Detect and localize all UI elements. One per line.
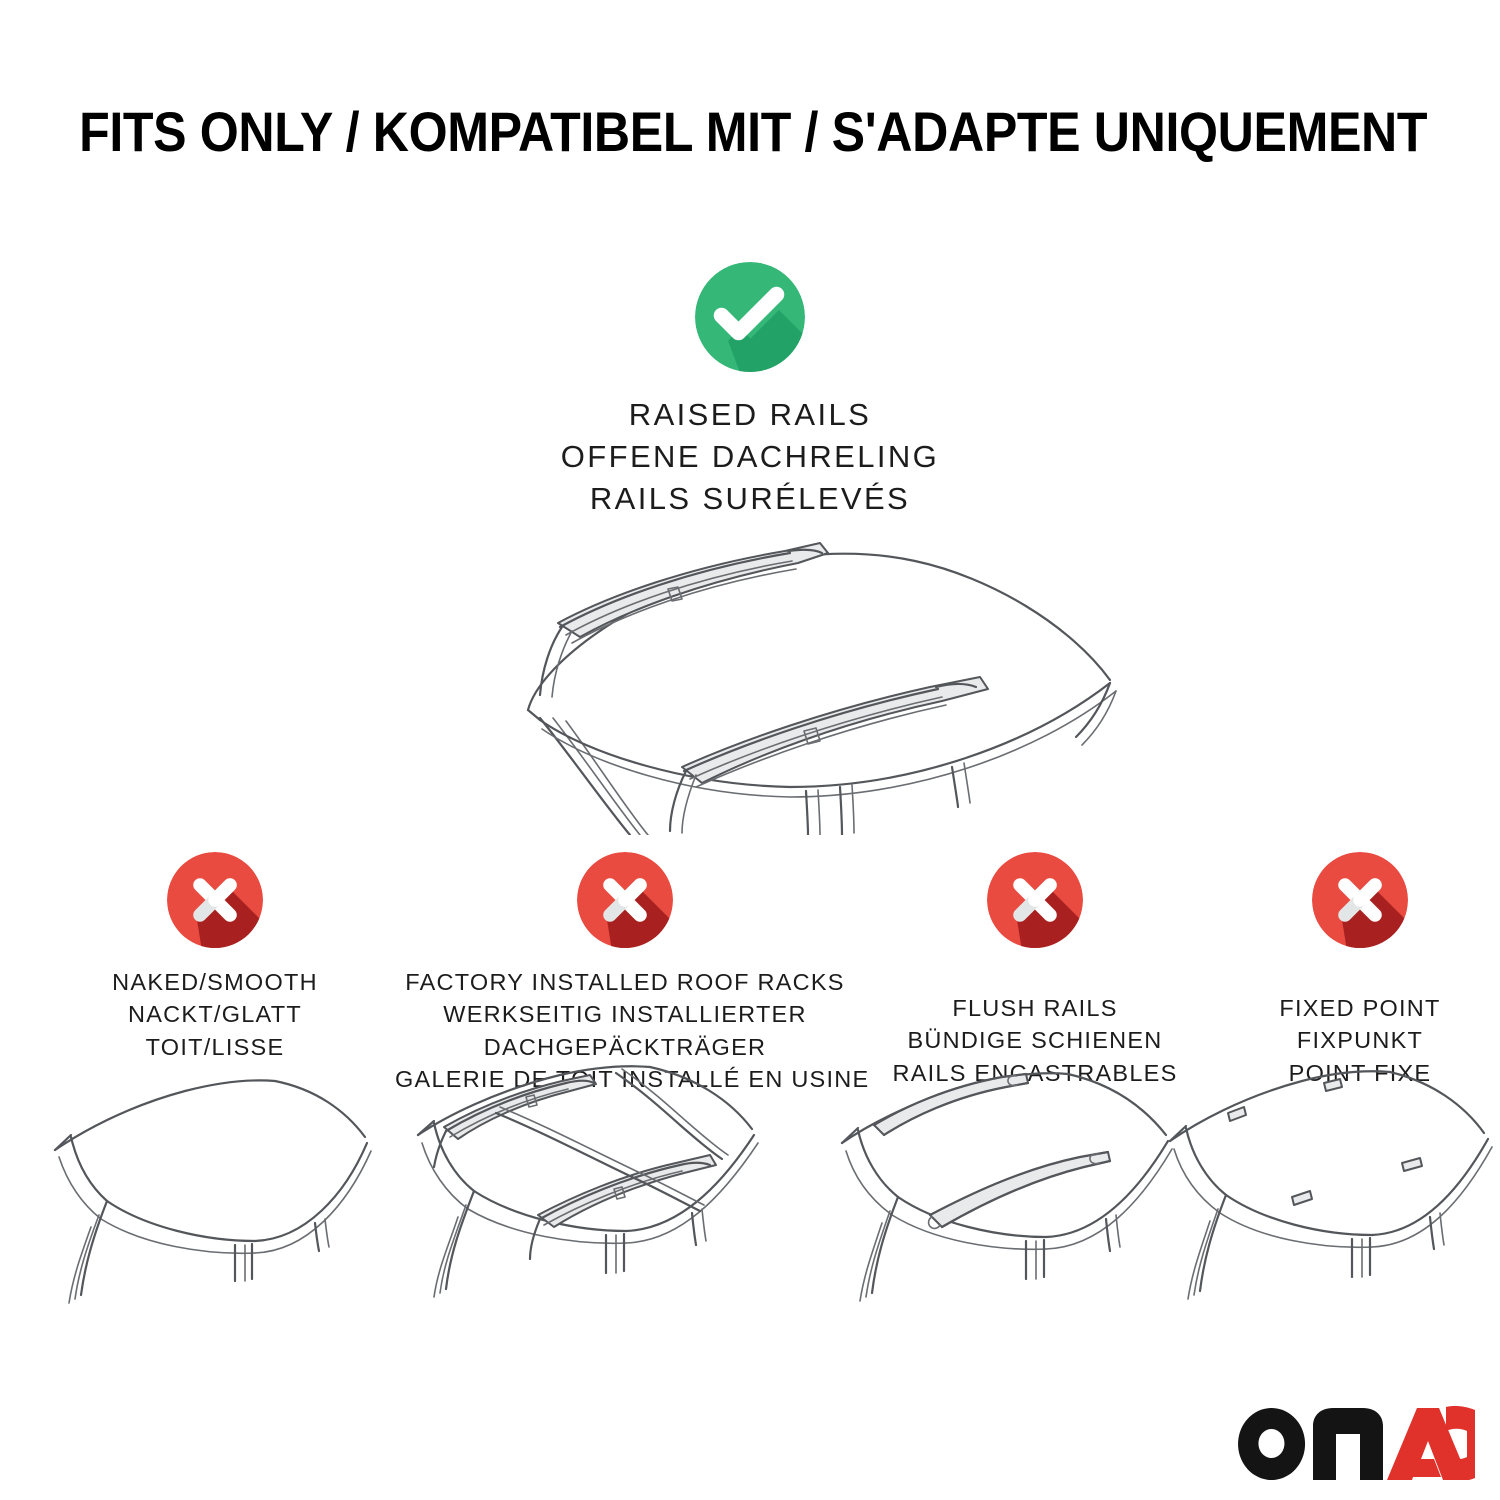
incompatible-4-label-en: FIXED POINT [1215,992,1500,1024]
incompatible-1-label-de: NACKT/GLATT [40,998,390,1030]
x-circle-icon [577,852,673,948]
incompatible-4-label-de: FIXPUNKT [1215,1024,1500,1056]
logo-letter-o [1238,1408,1305,1480]
compatible-labels: RAISED RAILS OFFENE DACHRELING RAILS SUR… [0,394,1500,520]
car-roof-raised-rails-illustration [390,505,1130,835]
compatible-section: RAISED RAILS OFFENE DACHRELING RAILS SUR… [0,262,1500,520]
page-title: FITS ONLY / KOMPATIBEL MIT / S'ADAPTE UN… [79,104,1427,160]
logo-letter-m [1313,1408,1383,1480]
incompatible-2-label-en: FACTORY INSTALLED ROOF RACKS [395,966,855,998]
incompatible-column-flush-rails: FLUSH RAILS BÜNDIGE SCHIENEN RAILS ENCAS… [860,852,1210,1089]
x-circle-icon [167,852,263,948]
page-title-bar: FITS ONLY / KOMPATIBEL MIT / S'ADAPTE UN… [0,104,1500,160]
x-icon-wrap-4 [1215,852,1500,952]
omac-logo [1235,1405,1475,1480]
incompatible-column-naked-smooth: NAKED/SMOOTH NACKT/GLATT TOIT/LISSE [40,852,390,1063]
car-roof-fixed-point-illustration [1160,1055,1500,1315]
x-circle-icon [1312,852,1408,948]
incompatible-column-fixed-point: FIXED POINT FIXPUNKT POINT FIXE [1215,852,1500,1089]
check-circle-icon [695,262,805,372]
compatible-label-de: OFFENE DACHRELING [0,436,1500,478]
incompatible-3-label-en: FLUSH RAILS [860,992,1210,1024]
x-circle-icon [987,852,1083,948]
incompatible-row: NAKED/SMOOTH NACKT/GLATT TOIT/LISSE FACT… [0,852,1500,1052]
incompatible-labels-1: NAKED/SMOOTH NACKT/GLATT TOIT/LISSE [40,966,390,1063]
car-roof-flush-rails-illustration [830,1055,1205,1315]
omac-logo-mark [1235,1405,1475,1480]
x-icon-wrap-2 [395,852,855,952]
car-roof-factory-roof-racks-illustration [400,1055,785,1315]
incompatible-1-label-en: NAKED/SMOOTH [40,966,390,998]
compatible-label-en: RAISED RAILS [0,394,1500,436]
incompatible-3-label-de: BÜNDIGE SCHIENEN [860,1024,1210,1056]
incompatible-2-label-de-1: WERKSEITIG INSTALLIERTER [395,998,855,1030]
x-icon-wrap-1 [40,852,390,952]
car-roof-naked-smooth-illustration [45,1055,395,1315]
x-icon-wrap-3 [860,852,1210,952]
